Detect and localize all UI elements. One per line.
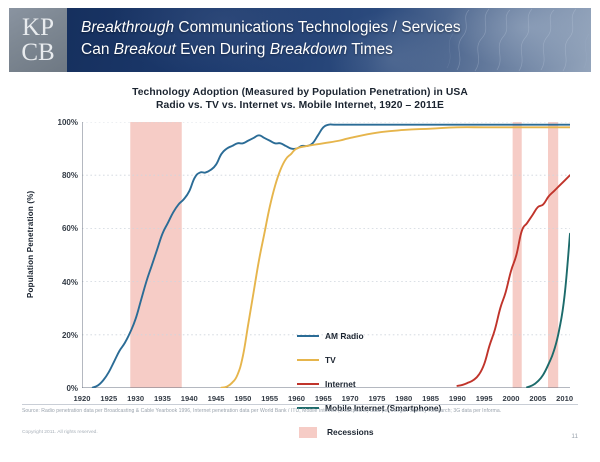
source-note: Source: Radio penetration data per Broad… — [22, 408, 567, 415]
logo-line-2: CB — [21, 40, 54, 65]
y-tick-label: 0% — [44, 384, 78, 393]
legend-item[interactable]: AM Radio — [297, 324, 497, 348]
banner-title-part-a: Can — [81, 41, 114, 58]
footer-divider — [22, 404, 578, 405]
x-tick-label: 1920 — [74, 394, 91, 403]
legend-item[interactable]: Internet — [297, 372, 497, 396]
copyright-note: Copyright 2011. All rights reserved. — [22, 430, 98, 435]
y-tick-label: 100% — [44, 118, 78, 127]
x-tick-label: 1955 — [261, 394, 278, 403]
legend-label: Recessions — [327, 427, 374, 437]
legend-label: AM Radio — [325, 331, 364, 341]
banner-title-part-c: Times — [347, 41, 393, 58]
chart-container: Population Penetration (%) 0%20%40%60%80… — [0, 112, 600, 402]
banner-title-line-2: Can Breakout Even During Breakdown Times — [81, 39, 461, 61]
banner-title-emphasis-3: Breakdown — [270, 41, 348, 58]
x-tick-label: 1930 — [127, 394, 144, 403]
banner-title-emphasis-1: Breakthrough — [81, 19, 174, 36]
legend-label: Internet — [325, 379, 356, 389]
y-tick-label: 60% — [44, 224, 78, 233]
chart-title: Technology Adoption (Measured by Populat… — [0, 86, 600, 112]
x-tick-label: 1945 — [208, 394, 225, 403]
y-axis-label: Population Penetration (%) — [26, 191, 35, 298]
header-banner: KP CB Breakthrough Communications Techno… — [9, 8, 591, 72]
chart-legend: AM RadioTVInternetMobile Internet (Smart… — [297, 324, 497, 444]
recession-band — [548, 122, 558, 388]
y-tick-label: 80% — [44, 171, 78, 180]
legend-swatch-line — [297, 383, 319, 385]
logo-line-1: KP — [22, 15, 54, 40]
y-axis-ticks: 0%20%40%60%80%100% — [40, 112, 78, 402]
banner-texture-decoration — [441, 8, 591, 72]
page-number: 11 — [571, 433, 578, 440]
banner-title-rest-1: Communications Technologies / Services — [174, 19, 461, 36]
kpcb-logo: KP CB — [9, 8, 67, 72]
legend-item[interactable]: TV — [297, 348, 497, 372]
x-tick-label: 1940 — [181, 394, 198, 403]
legend-label: TV — [325, 355, 336, 365]
kpcb-logo-letters: KP CB — [9, 8, 67, 72]
banner-title-emphasis-2: Breakout — [114, 41, 176, 58]
x-tick-label: 2000 — [503, 394, 520, 403]
x-tick-label: 1935 — [154, 394, 171, 403]
legend-swatch-box — [299, 427, 317, 438]
banner-background: Breakthrough Communications Technologies… — [67, 8, 591, 72]
x-tick-label: 1925 — [100, 394, 117, 403]
x-tick-label: 2010 — [556, 394, 573, 403]
legend-swatch-line — [297, 335, 319, 337]
y-tick-label: 20% — [44, 331, 78, 340]
chart-title-line-2: Radio vs. TV vs. Internet vs. Mobile Int… — [0, 99, 600, 112]
banner-title-line-1: Breakthrough Communications Technologies… — [81, 17, 461, 39]
chart-title-line-1: Technology Adoption (Measured by Populat… — [0, 86, 600, 99]
y-tick-label: 40% — [44, 278, 78, 287]
legend-item[interactable]: Recessions — [297, 420, 497, 444]
legend-swatch-line — [297, 359, 319, 361]
banner-title-part-b: Even During — [176, 41, 270, 58]
banner-title: Breakthrough Communications Technologies… — [81, 17, 461, 61]
x-tick-label: 1950 — [234, 394, 251, 403]
x-tick-label: 2005 — [529, 394, 546, 403]
